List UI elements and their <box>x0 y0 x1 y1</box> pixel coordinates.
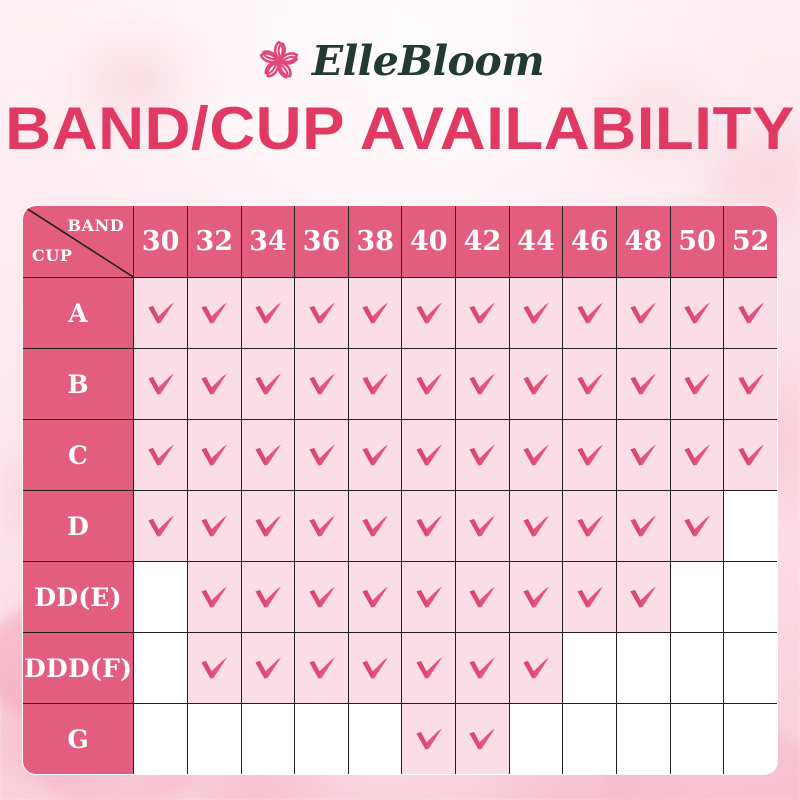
availability-cell-available[interactable] <box>187 278 241 349</box>
availability-cell-available[interactable] <box>348 278 402 349</box>
check-icon <box>414 371 444 397</box>
table-row: DD(E) <box>23 562 778 633</box>
check-icon <box>521 655 551 681</box>
availability-cell-available[interactable] <box>563 278 617 349</box>
availability-cell-available[interactable] <box>134 491 188 562</box>
availability-cell-unavailable[interactable] <box>348 704 402 775</box>
availability-chart: BAND CUP 303234363840424446485052 ABCDDD… <box>22 205 778 775</box>
band-size-header: 40 <box>402 206 456 278</box>
availability-cell-unavailable[interactable] <box>670 633 724 704</box>
check-icon <box>414 442 444 468</box>
check-icon <box>199 442 229 468</box>
availability-cell-available[interactable] <box>348 491 402 562</box>
check-icon <box>521 584 551 610</box>
cup-size-label: DD(E) <box>23 562 134 633</box>
band-size-header: 44 <box>509 206 563 278</box>
availability-cell-unavailable[interactable] <box>134 562 188 633</box>
check-icon <box>146 300 176 326</box>
availability-cell-available[interactable] <box>456 633 510 704</box>
table-row: B <box>23 349 778 420</box>
corner-band-label: BAND <box>67 218 124 234</box>
check-icon <box>414 655 444 681</box>
availability-cell-available[interactable] <box>509 349 563 420</box>
check-icon <box>682 371 712 397</box>
band-size-header: 46 <box>563 206 617 278</box>
check-icon <box>146 513 176 539</box>
cup-size-label: D <box>23 491 134 562</box>
availability-cell-available[interactable] <box>456 562 510 633</box>
check-icon <box>575 584 605 610</box>
availability-cell-available[interactable] <box>509 491 563 562</box>
availability-cell-available[interactable] <box>563 349 617 420</box>
availability-cell-available[interactable] <box>134 420 188 491</box>
check-icon <box>360 655 390 681</box>
availability-cell-unavailable[interactable] <box>134 633 188 704</box>
check-icon <box>467 513 497 539</box>
availability-cell-available[interactable] <box>348 633 402 704</box>
table-body: ABCDDD(E)DDD(F)G <box>23 278 778 775</box>
check-icon <box>628 442 658 468</box>
check-icon <box>360 584 390 610</box>
availability-cell-available[interactable] <box>509 633 563 704</box>
availability-cell-available[interactable] <box>402 633 456 704</box>
availability-cell-available[interactable] <box>241 562 295 633</box>
cup-size-label: A <box>23 278 134 349</box>
availability-cell-available[interactable] <box>348 420 402 491</box>
availability-cell-available[interactable] <box>134 278 188 349</box>
corner-cell: BAND CUP <box>23 206 134 278</box>
band-size-header: 50 <box>670 206 724 278</box>
availability-cell-available[interactable] <box>241 349 295 420</box>
check-icon <box>467 300 497 326</box>
availability-cell-available[interactable] <box>187 491 241 562</box>
availability-cell-available[interactable] <box>724 278 778 349</box>
check-icon <box>360 371 390 397</box>
table-head: BAND CUP 303234363840424446485052 <box>23 206 778 278</box>
check-icon <box>253 513 283 539</box>
check-icon <box>628 300 658 326</box>
availability-cell-unavailable[interactable] <box>724 704 778 775</box>
check-icon <box>575 513 605 539</box>
band-header-row: BAND CUP 303234363840424446485052 <box>23 206 778 278</box>
check-icon <box>467 726 497 752</box>
table-row: G <box>23 704 778 775</box>
table-row: DDD(F) <box>23 633 778 704</box>
check-icon <box>199 513 229 539</box>
availability-cell-available[interactable] <box>456 349 510 420</box>
availability-cell-available[interactable] <box>295 562 349 633</box>
availability-cell-available[interactable] <box>402 420 456 491</box>
check-icon <box>199 300 229 326</box>
band-size-header: 34 <box>241 206 295 278</box>
availability-cell-available[interactable] <box>724 349 778 420</box>
availability-cell-available[interactable] <box>134 349 188 420</box>
availability-cell-unavailable[interactable] <box>617 633 671 704</box>
corner-cup-label: CUP <box>32 248 73 264</box>
availability-cell-available[interactable] <box>509 420 563 491</box>
table-row: A <box>23 278 778 349</box>
check-icon <box>521 371 551 397</box>
check-icon <box>467 584 497 610</box>
availability-cell-available[interactable] <box>241 633 295 704</box>
check-icon <box>521 442 551 468</box>
availability-cell-unavailable[interactable] <box>509 704 563 775</box>
flower-icon <box>256 38 302 84</box>
check-icon <box>736 442 766 468</box>
check-icon <box>628 584 658 610</box>
check-icon <box>360 442 390 468</box>
availability-cell-available[interactable] <box>241 491 295 562</box>
availability-cell-available[interactable] <box>456 704 510 775</box>
check-icon <box>253 655 283 681</box>
band-size-header: 48 <box>617 206 671 278</box>
check-icon <box>360 300 390 326</box>
availability-cell-available[interactable] <box>402 278 456 349</box>
band-size-header: 42 <box>456 206 510 278</box>
availability-cell-available[interactable] <box>456 278 510 349</box>
availability-cell-available[interactable] <box>670 491 724 562</box>
availability-cell-unavailable[interactable] <box>724 562 778 633</box>
check-icon <box>682 513 712 539</box>
check-icon <box>253 300 283 326</box>
availability-cell-unavailable[interactable] <box>670 704 724 775</box>
availability-cell-unavailable[interactable] <box>724 633 778 704</box>
availability-table: BAND CUP 303234363840424446485052 ABCDDD… <box>22 205 778 775</box>
check-icon <box>307 442 337 468</box>
availability-cell-available[interactable] <box>670 420 724 491</box>
check-icon <box>521 513 551 539</box>
availability-cell-unavailable[interactable] <box>241 704 295 775</box>
availability-cell-available[interactable] <box>295 491 349 562</box>
availability-cell-available[interactable] <box>187 420 241 491</box>
availability-cell-available[interactable] <box>670 278 724 349</box>
check-icon <box>199 655 229 681</box>
availability-cell-unavailable[interactable] <box>295 704 349 775</box>
band-size-header: 32 <box>187 206 241 278</box>
table-row: C <box>23 420 778 491</box>
check-icon <box>628 513 658 539</box>
availability-cell-available[interactable] <box>617 278 671 349</box>
check-icon <box>146 371 176 397</box>
availability-cell-available[interactable] <box>563 562 617 633</box>
availability-cell-available[interactable] <box>456 491 510 562</box>
cup-size-label: B <box>23 349 134 420</box>
availability-cell-unavailable[interactable] <box>617 704 671 775</box>
check-icon <box>253 442 283 468</box>
availability-cell-available[interactable] <box>187 349 241 420</box>
band-size-header: 52 <box>724 206 778 278</box>
brand-name: ElleBloom <box>312 37 544 85</box>
check-icon <box>467 655 497 681</box>
check-icon <box>467 371 497 397</box>
availability-cell-unavailable[interactable] <box>724 491 778 562</box>
cup-size-label: C <box>23 420 134 491</box>
check-icon <box>575 371 605 397</box>
availability-cell-unavailable[interactable] <box>563 633 617 704</box>
availability-cell-available[interactable] <box>295 349 349 420</box>
check-icon <box>253 584 283 610</box>
availability-cell-available[interactable] <box>617 491 671 562</box>
availability-cell-available[interactable] <box>295 420 349 491</box>
check-icon <box>307 655 337 681</box>
band-size-header: 36 <box>295 206 349 278</box>
availability-cell-available[interactable] <box>617 349 671 420</box>
check-icon <box>682 442 712 468</box>
check-icon <box>199 371 229 397</box>
cup-size-label: G <box>23 704 134 775</box>
availability-cell-available[interactable] <box>295 278 349 349</box>
check-icon <box>414 300 444 326</box>
availability-cell-unavailable[interactable] <box>187 704 241 775</box>
availability-cell-available[interactable] <box>348 349 402 420</box>
check-icon <box>736 371 766 397</box>
availability-cell-available[interactable] <box>509 278 563 349</box>
brand-header: ElleBloom <box>0 32 800 90</box>
availability-cell-unavailable[interactable] <box>134 704 188 775</box>
check-icon <box>307 513 337 539</box>
availability-cell-available[interactable] <box>563 491 617 562</box>
availability-cell-available[interactable] <box>617 562 671 633</box>
check-icon <box>360 513 390 539</box>
availability-cell-available[interactable] <box>617 420 671 491</box>
check-icon <box>253 371 283 397</box>
availability-cell-available[interactable] <box>187 562 241 633</box>
check-icon <box>682 300 712 326</box>
cup-size-label: DDD(F) <box>23 633 134 704</box>
table-row: D <box>23 491 778 562</box>
availability-cell-available[interactable] <box>295 633 349 704</box>
check-icon <box>146 442 176 468</box>
availability-cell-available[interactable] <box>509 562 563 633</box>
check-icon <box>628 371 658 397</box>
check-icon <box>414 726 444 752</box>
check-icon <box>199 584 229 610</box>
check-icon <box>307 371 337 397</box>
availability-cell-available[interactable] <box>456 420 510 491</box>
band-size-header: 38 <box>348 206 402 278</box>
check-icon <box>307 584 337 610</box>
check-icon <box>414 513 444 539</box>
check-icon <box>414 584 444 610</box>
availability-cell-available[interactable] <box>241 420 295 491</box>
availability-cell-available[interactable] <box>670 349 724 420</box>
availability-cell-unavailable[interactable] <box>670 562 724 633</box>
check-icon <box>307 300 337 326</box>
page-title: BAND/CUP AVAILABILITY <box>0 96 800 162</box>
availability-cell-available[interactable] <box>402 349 456 420</box>
availability-cell-available[interactable] <box>241 278 295 349</box>
check-icon <box>575 442 605 468</box>
availability-cell-available[interactable] <box>187 633 241 704</box>
availability-cell-available[interactable] <box>724 420 778 491</box>
band-size-header: 30 <box>134 206 188 278</box>
check-icon <box>467 442 497 468</box>
check-icon <box>521 300 551 326</box>
check-icon <box>736 300 766 326</box>
availability-cell-available[interactable] <box>402 704 456 775</box>
availability-cell-unavailable[interactable] <box>563 704 617 775</box>
availability-cell-available[interactable] <box>402 562 456 633</box>
availability-cell-available[interactable] <box>402 491 456 562</box>
availability-cell-available[interactable] <box>348 562 402 633</box>
availability-cell-available[interactable] <box>563 420 617 491</box>
check-icon <box>575 300 605 326</box>
